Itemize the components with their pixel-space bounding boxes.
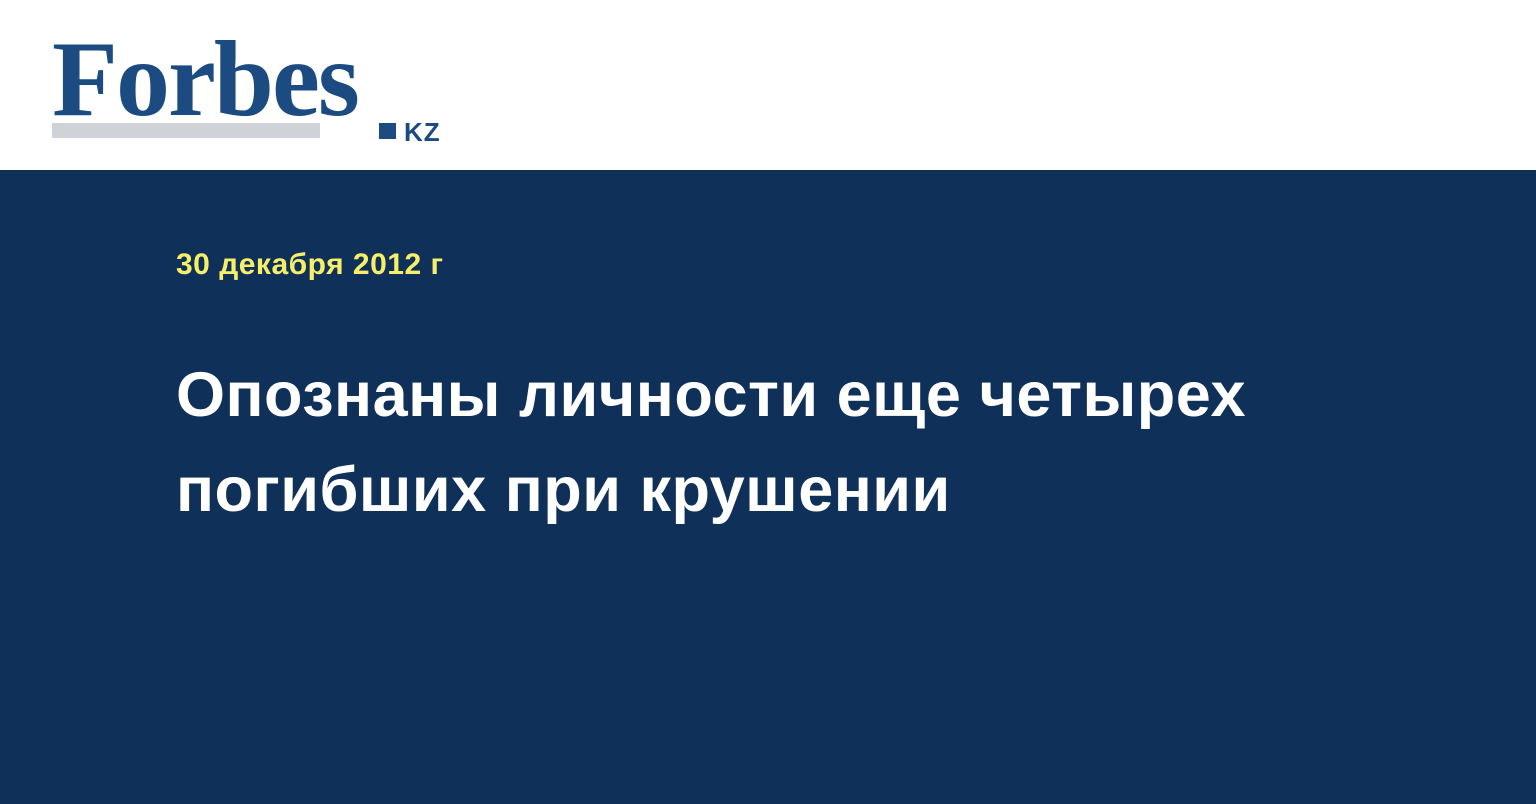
logo-country-code: kz — [404, 119, 441, 145]
article-headline: Опознаны личности еще четырех погибших п… — [176, 348, 1376, 538]
logo-underbar — [52, 123, 320, 138]
forbes-kz-logo[interactable]: Forbes kz — [52, 26, 412, 146]
logo-square-icon — [379, 123, 396, 139]
headline-line-1: Опознаны личности еще четырех — [176, 348, 1376, 443]
site-header: Forbes kz — [0, 0, 1536, 170]
forbes-wordmark: Forbes — [52, 26, 358, 134]
article-publish-date: 30 декабря 2012 г — [176, 248, 444, 282]
headline-line-2: погибших при крушении — [176, 443, 1376, 538]
article-card-page: Forbes kz 30 декабря 2012 г Опознаны лич… — [0, 0, 1536, 804]
article-hero: 30 декабря 2012 г Опознаны личности еще … — [0, 170, 1536, 804]
